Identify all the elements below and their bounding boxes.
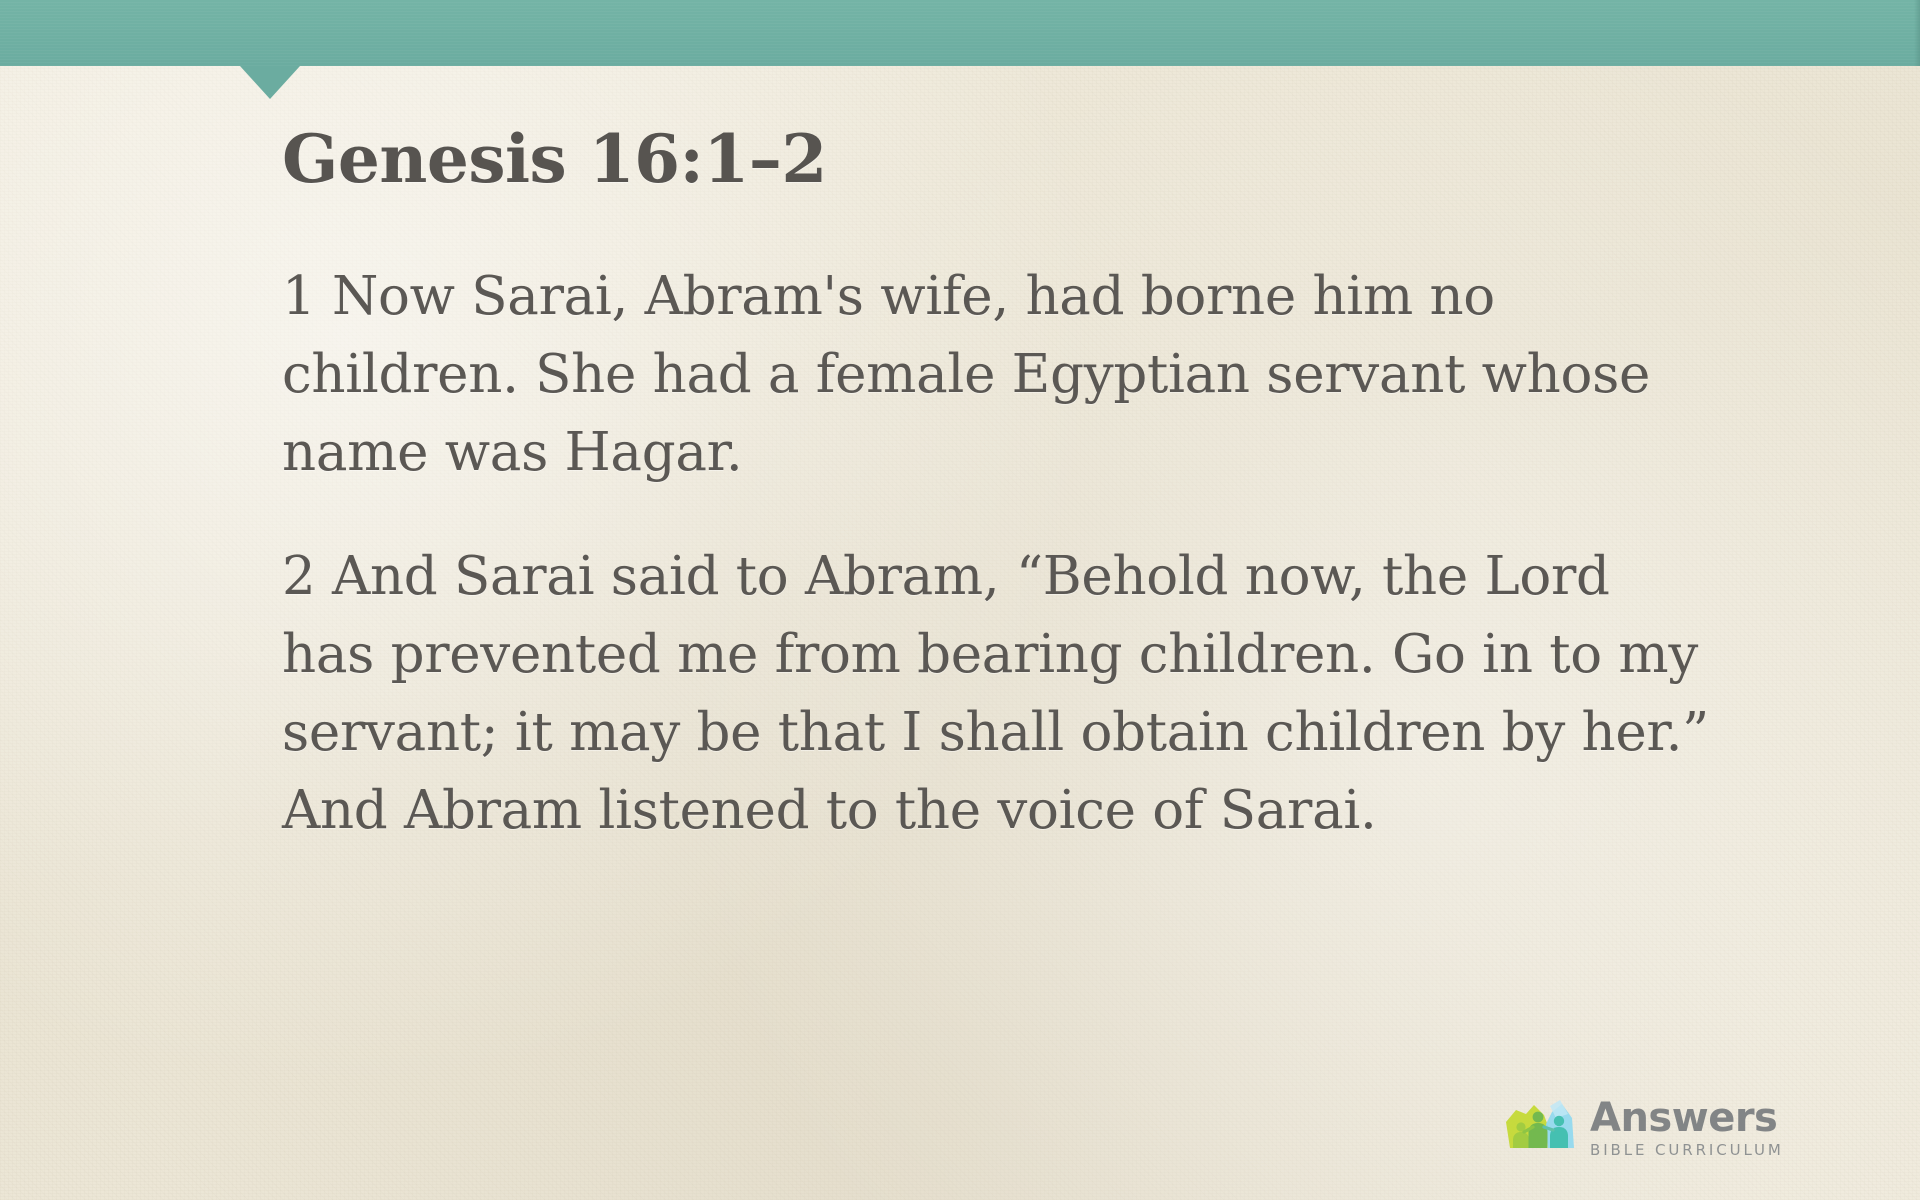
logo-wordmark: Answers <box>1590 1098 1784 1138</box>
header-bar-right-edge <box>1914 0 1920 66</box>
slide-content: Genesis 16:1–2 1 Now Sarai, Abram's wife… <box>282 118 1722 850</box>
scripture-verse-block: 1 Now Sarai, Abram's wife, had borne him… <box>282 258 1722 850</box>
family-house-icon <box>1502 1096 1580 1160</box>
scripture-slide: Genesis 16:1–2 1 Now Sarai, Abram's wife… <box>0 0 1920 1200</box>
logo: Answers BIBLE CURRICULUM <box>1502 1096 1784 1160</box>
page-title: Genesis 16:1–2 <box>282 118 1722 200</box>
header-accent-bar <box>0 0 1920 66</box>
logo-tagline: BIBLE CURRICULUM <box>1590 1143 1784 1158</box>
verse-paragraph-1: 1 Now Sarai, Abram's wife, had borne him… <box>282 258 1712 492</box>
header-notch-triangle <box>240 66 300 99</box>
verse-paragraph-2: 2 And Sarai said to Abram, “Behold now, … <box>282 538 1712 850</box>
logo-text-group: Answers BIBLE CURRICULUM <box>1590 1098 1784 1158</box>
